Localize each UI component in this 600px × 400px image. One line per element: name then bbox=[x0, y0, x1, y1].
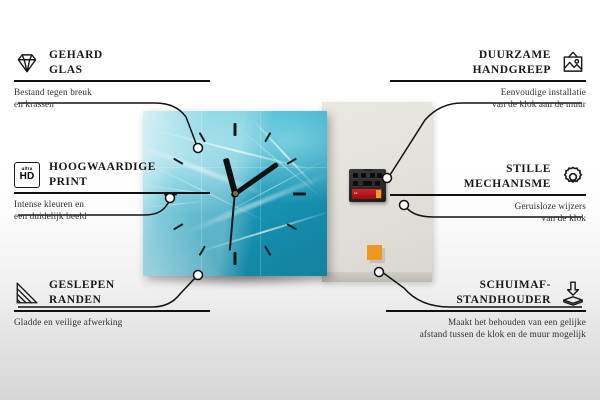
battery-label: AA bbox=[354, 192, 358, 195]
ultra-hd-icon-bottom: HD bbox=[20, 172, 35, 182]
hanging-picture-icon bbox=[560, 50, 586, 76]
feature-geslepen-randen: GESLEPENRANDEN Gladde en veilige afwerki… bbox=[14, 278, 210, 328]
beveled-edge-icon bbox=[14, 280, 40, 306]
battery: AA bbox=[352, 189, 382, 199]
foam-spacer-pad bbox=[367, 245, 382, 260]
feature-title: DUURZAMEHANDGREEP bbox=[473, 48, 551, 77]
feature-rule bbox=[14, 80, 210, 82]
feature-head: DUURZAMEHANDGREEP bbox=[390, 48, 586, 77]
feature-rule bbox=[386, 310, 586, 312]
clock-center-hub bbox=[233, 191, 238, 196]
feature-head: STILLEMECHANISME bbox=[390, 162, 586, 191]
feature-desc: Intense kleuren eneen duidelijk beeld bbox=[14, 198, 210, 223]
feature-title: HOOGWAARDIGEPRINT bbox=[49, 160, 156, 189]
feature-desc: Maakt het behouden van een gelijkeafstan… bbox=[386, 316, 586, 341]
diamond-icon bbox=[14, 50, 40, 76]
feature-head: SCHUIMAF-STANDHOUDER bbox=[386, 278, 586, 307]
feature-desc: Geruisloze wijzersvan de klok bbox=[390, 200, 586, 225]
feature-schuimafstandhouder: SCHUIMAF-STANDHOUDER Maakt het behouden … bbox=[386, 278, 586, 341]
feature-rule bbox=[390, 80, 586, 82]
feature-desc: Eenvoudige installatievan de klok aan de… bbox=[390, 86, 586, 111]
feature-head: GESLEPENRANDEN bbox=[14, 278, 210, 307]
feature-title: GEHARDGLAS bbox=[49, 48, 103, 77]
clock-minute-hand bbox=[230, 162, 279, 198]
clock-mechanism: AA bbox=[349, 169, 386, 202]
ultra-hd-icon: ultra HD bbox=[14, 162, 40, 188]
mechanism-detail bbox=[352, 173, 383, 187]
arrow-down-onto-pad-icon bbox=[560, 280, 586, 306]
feature-title: SCHUIMAF-STANDHOUDER bbox=[456, 278, 551, 307]
feature-rule bbox=[14, 192, 210, 194]
feature-desc: Bestand tegen breuken krassen bbox=[14, 86, 210, 111]
feature-hoogwaardige-print: ultra HD HOOGWAARDIGEPRINT Intense kleur… bbox=[14, 160, 210, 223]
gear-icon bbox=[560, 164, 586, 190]
feature-stille-mechanisme: STILLEMECHANISME Geruisloze wijzersvan d… bbox=[390, 162, 586, 225]
feature-title: STILLEMECHANISME bbox=[464, 162, 551, 191]
feature-desc: Gladde en veilige afwerking bbox=[14, 316, 210, 328]
feature-gehard-glas: GEHARDGLAS Bestand tegen breuken krassen bbox=[14, 48, 210, 111]
feature-rule bbox=[390, 194, 586, 196]
feature-head: GEHARDGLAS bbox=[14, 48, 210, 77]
feature-title: GESLEPENRANDEN bbox=[49, 278, 115, 307]
mechanism-hanger-tab bbox=[363, 169, 373, 171]
feature-rule bbox=[14, 310, 210, 312]
feature-head: ultra HD HOOGWAARDIGEPRINT bbox=[14, 160, 210, 189]
feature-duurzame-handgreep: DUURZAMEHANDGREEP Eenvoudige installatie… bbox=[390, 48, 586, 111]
